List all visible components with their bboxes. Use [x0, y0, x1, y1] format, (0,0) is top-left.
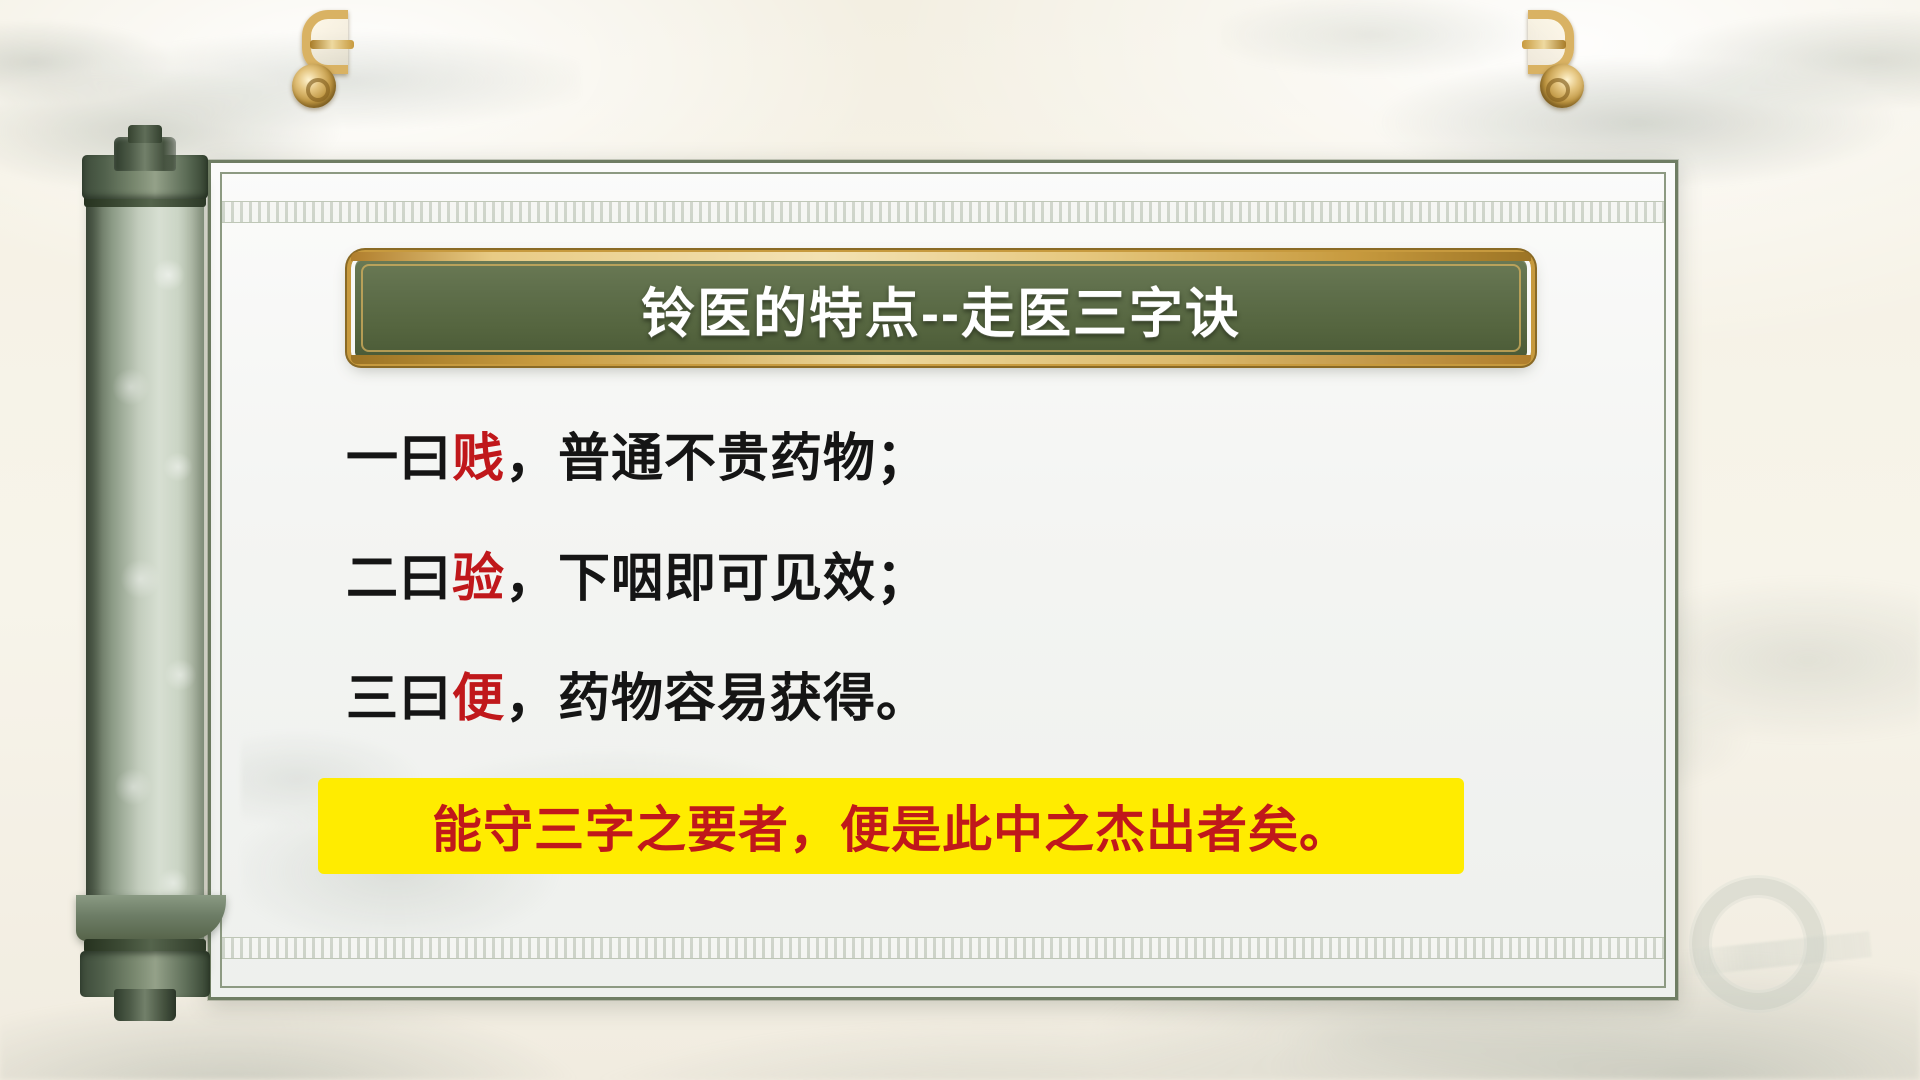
- body-line-3-suffix: ，药物容易获得。: [505, 670, 929, 728]
- scroll-paper-curl: [76, 895, 226, 941]
- page-title: 铃医的特点--走医三字诀: [355, 258, 1527, 358]
- body-line-1-keyword: 贱: [452, 430, 505, 488]
- sheet-top-border-pattern: [222, 201, 1664, 223]
- ruyi-curl-icon: [292, 64, 336, 108]
- highlight-conclusion-box: 能守三字之要者，便是此中之杰出者矣。: [318, 778, 1464, 874]
- slide-canvas: 铃医的特点--走医三字诀 一曰贱，普通不贵药物； 二曰验，下咽即可见效； 三曰便…: [0, 0, 1920, 1080]
- scroll-roll-left: [70, 145, 208, 1015]
- highlight-conclusion-text: 能守三字之要者，便是此中之杰出者矣。: [432, 790, 1350, 862]
- body-line-3: 三曰便，药物容易获得。: [346, 670, 1526, 728]
- body-line-2-suffix: ，下咽即可见效；: [505, 550, 929, 608]
- ruyi-ornament-left-icon: [288, 6, 362, 114]
- scroll-roll-bottom-knob: [114, 989, 176, 1021]
- scroll-roll-top-finial: [128, 125, 162, 143]
- body-line-1-suffix: ，普通不贵药物；: [505, 430, 929, 488]
- body-line-2-keyword: 验: [452, 550, 505, 608]
- body-line-2-prefix: 二曰: [346, 550, 452, 608]
- scroll-roll-shadow: [86, 179, 102, 979]
- body-line-3-keyword: 便: [452, 670, 505, 728]
- ruyi-bar-icon: [310, 40, 354, 49]
- body-text-block: 一曰贱，普通不贵药物； 二曰验，下咽即可见效； 三曰便，药物容易获得。: [346, 430, 1526, 791]
- body-line-3-prefix: 三曰: [346, 670, 452, 728]
- title-banner: 铃医的特点--走医三字诀: [296, 248, 1586, 368]
- body-line-2: 二曰验，下咽即可见效；: [346, 550, 1526, 608]
- ruyi-curl-icon: [1540, 64, 1584, 108]
- sheet-bottom-border-pattern: [222, 937, 1664, 959]
- body-line-1: 一曰贱，普通不贵药物；: [346, 430, 1526, 488]
- title-plaque: 铃医的特点--走医三字诀: [351, 254, 1531, 362]
- jade-ring-watermark-icon: [1692, 878, 1824, 1010]
- scroll-roll-damask-body: [86, 179, 204, 979]
- body-line-1-prefix: 一曰: [346, 430, 452, 488]
- ruyi-ornament-right-icon: [1514, 6, 1588, 114]
- ruyi-bar-icon: [1522, 40, 1566, 49]
